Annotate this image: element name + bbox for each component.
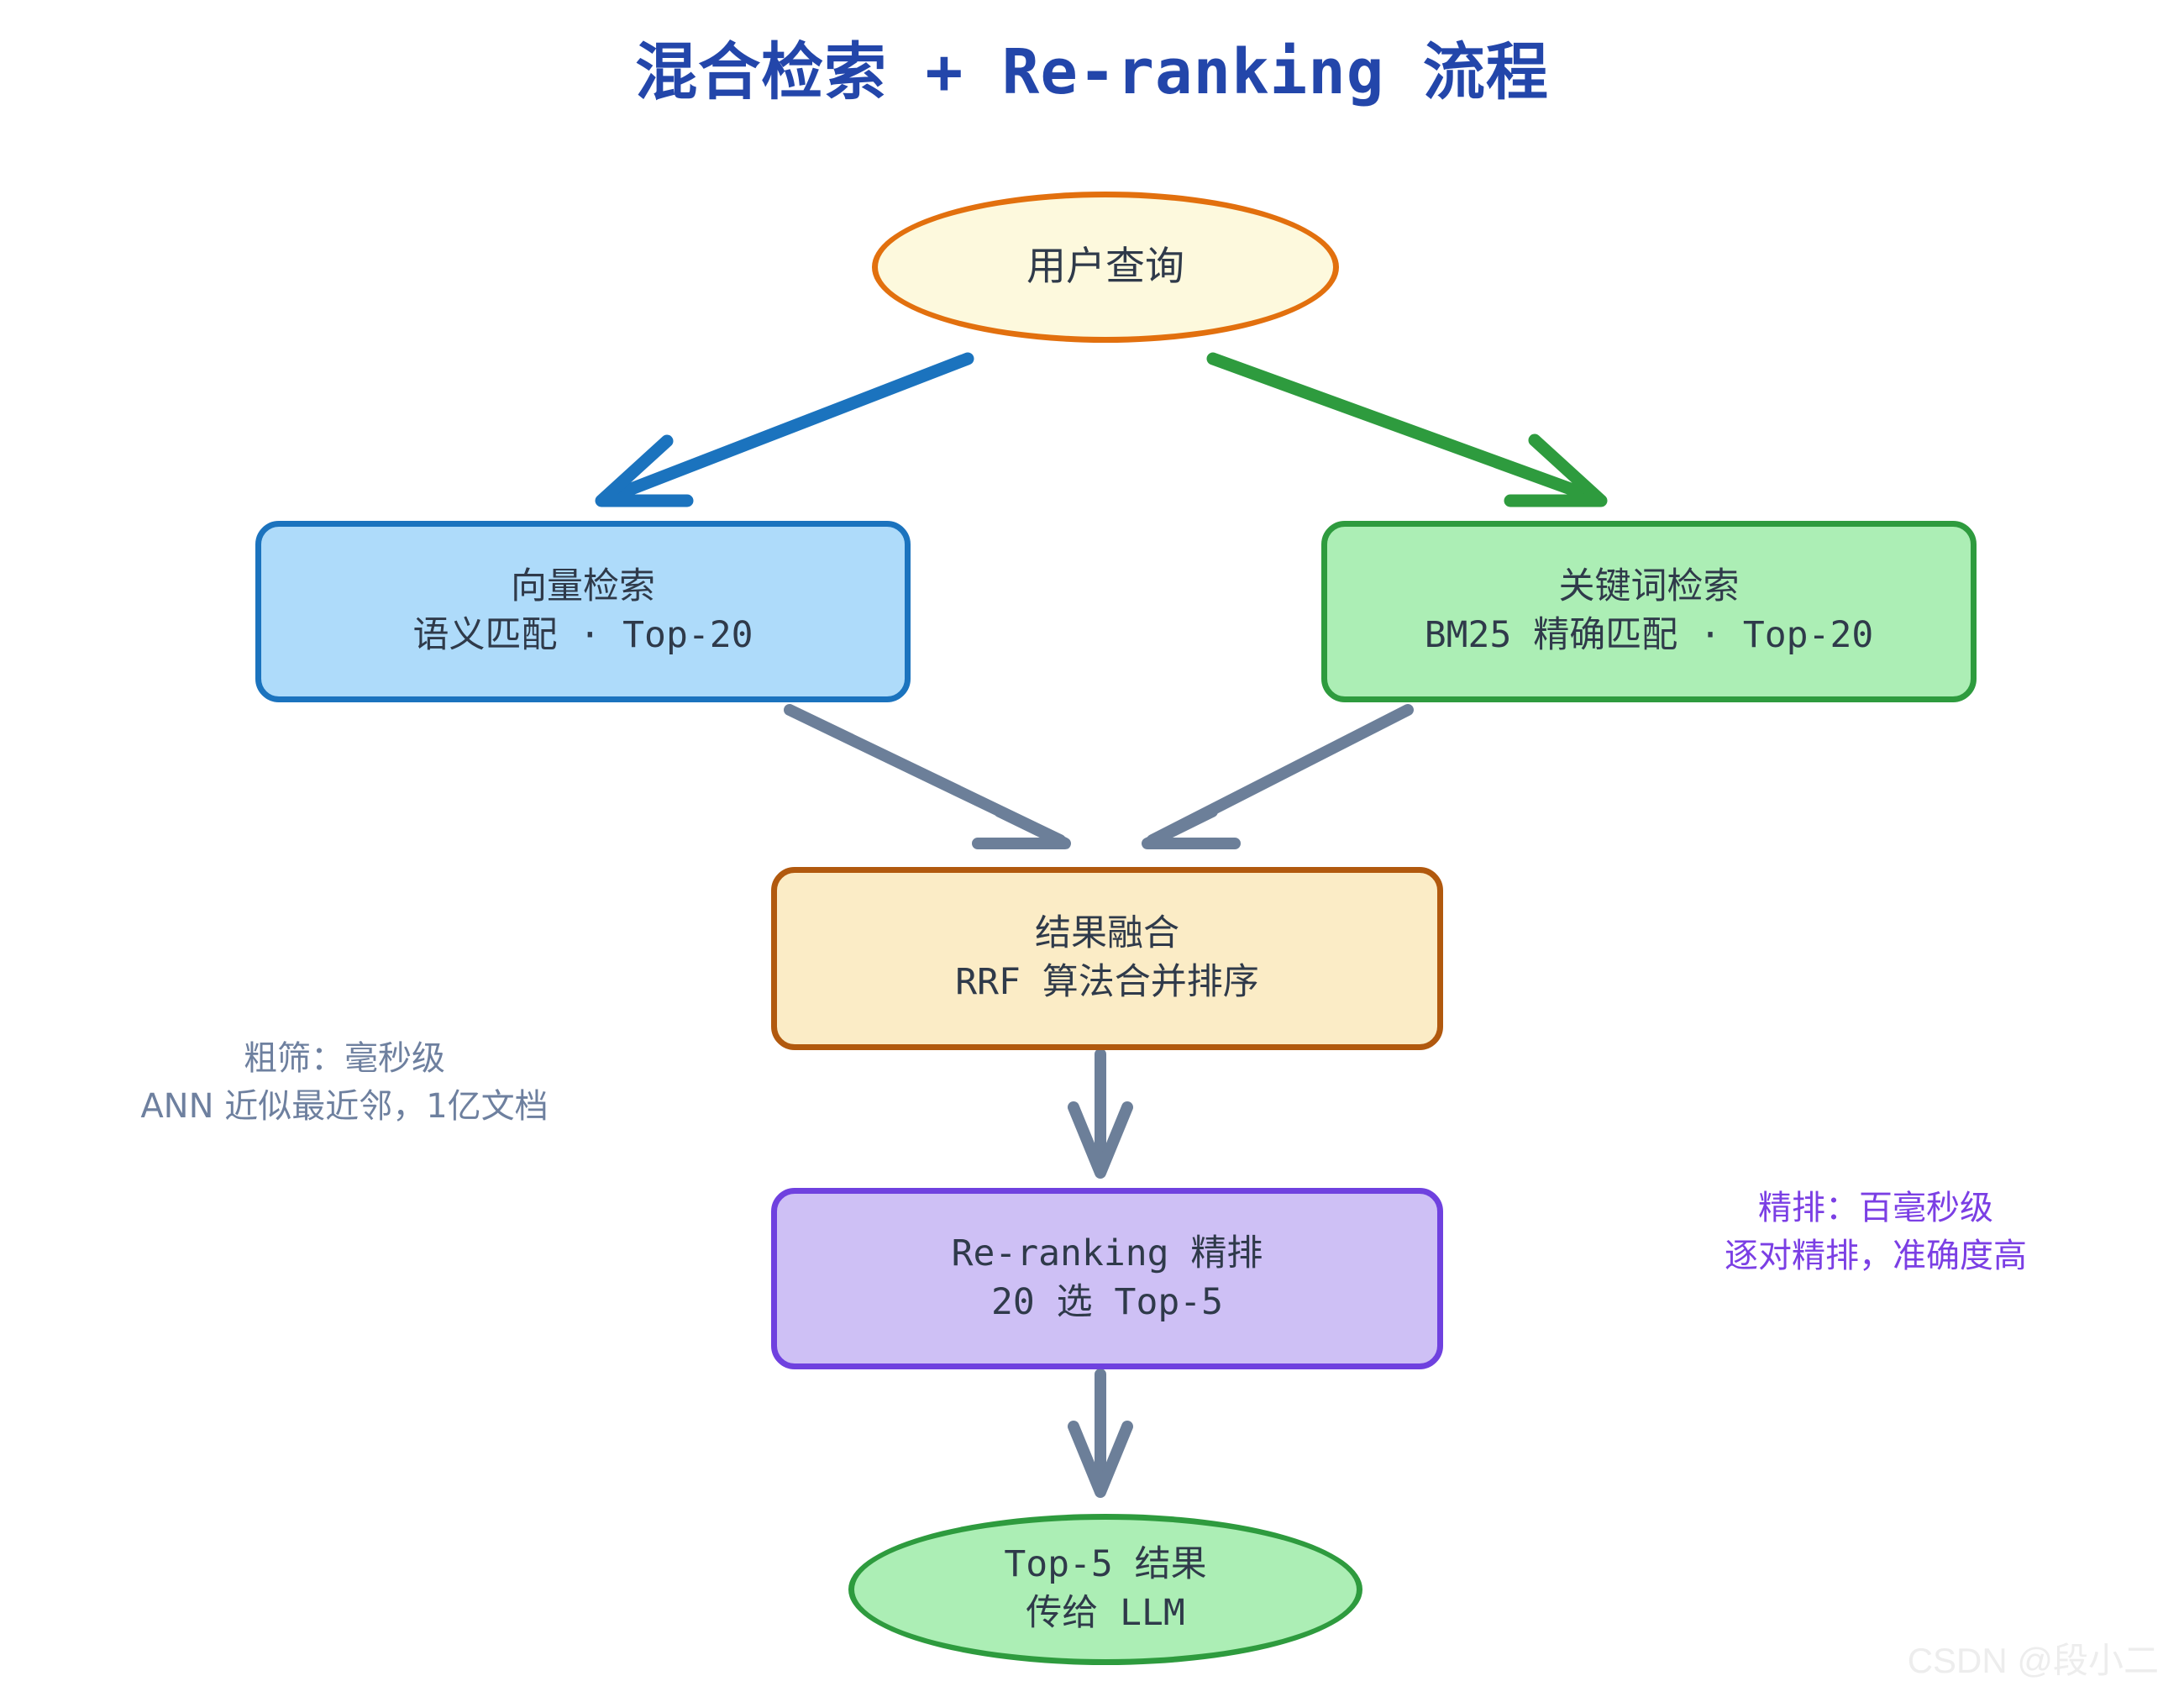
node-user-query[interactable]: 用户查询 <box>872 192 1339 343</box>
node-keyword-search-line-1: 关键词检索 <box>1559 563 1740 612</box>
node-vector-search-line-2: 语义匹配 · Top-20 <box>413 612 753 660</box>
annotation-fine-line-2: 逐对精排，准确度高 <box>1678 1232 2073 1280</box>
node-fusion-line-1: 结果融合 <box>1035 910 1179 959</box>
page-title: 混合检索 + Re-ranking 流程 <box>0 22 2184 112</box>
node-user-query-line-1: 用户查询 <box>1026 241 1184 294</box>
node-fusion-line-2: RRF 算法合并排序 <box>955 959 1259 1007</box>
annotation-coarse-line-2: ANN 近似最近邻，1亿文档 <box>92 1083 596 1131</box>
node-keyword-search[interactable]: 关键词检索 BM25 精确匹配 · Top-20 <box>1321 521 1977 702</box>
diagram-canvas: 混合检索 + Re-ranking 流程 <box>0 0 2184 1697</box>
edge-keyword-to-fusion <box>1147 710 1408 843</box>
annotation-coarse-stage: 粗筛：毫秒级 ANN 近似最近邻，1亿文档 <box>92 1035 596 1131</box>
node-top5-result[interactable]: Top-5 结果 传给 LLM <box>848 1514 1362 1665</box>
node-reranking-line-2: 20 选 Top-5 <box>991 1279 1223 1327</box>
node-fusion[interactable]: 结果融合 RRF 算法合并排序 <box>771 867 1443 1050</box>
edge-query-to-keyword <box>1213 359 1601 501</box>
watermark: CSDN @段小二 <box>1908 1632 2159 1684</box>
node-keyword-search-line-2: BM25 精确匹配 · Top-20 <box>1425 612 1873 660</box>
edge-query-to-vector <box>601 359 968 501</box>
edge-reranking-to-result <box>1074 1374 1127 1492</box>
node-vector-search-line-1: 向量检索 <box>511 563 655 612</box>
annotation-fine-line-1: 精排：百毫秒级 <box>1678 1185 2073 1232</box>
node-reranking-line-1: Re-ranking 精排 <box>952 1230 1263 1279</box>
node-top5-result-line-2: 传给 LLM <box>1026 1589 1185 1638</box>
annotation-coarse-line-1: 粗筛：毫秒级 <box>92 1035 596 1083</box>
node-reranking[interactable]: Re-ranking 精排 20 选 Top-5 <box>771 1188 1443 1369</box>
edge-vector-to-fusion <box>790 710 1065 843</box>
node-top5-result-line-1: Top-5 结果 <box>1004 1541 1206 1589</box>
annotation-fine-stage: 精排：百毫秒级 逐对精排，准确度高 <box>1678 1185 2073 1280</box>
node-vector-search[interactable]: 向量检索 语义匹配 · Top-20 <box>255 521 911 702</box>
edge-fusion-to-reranking <box>1074 1054 1127 1173</box>
